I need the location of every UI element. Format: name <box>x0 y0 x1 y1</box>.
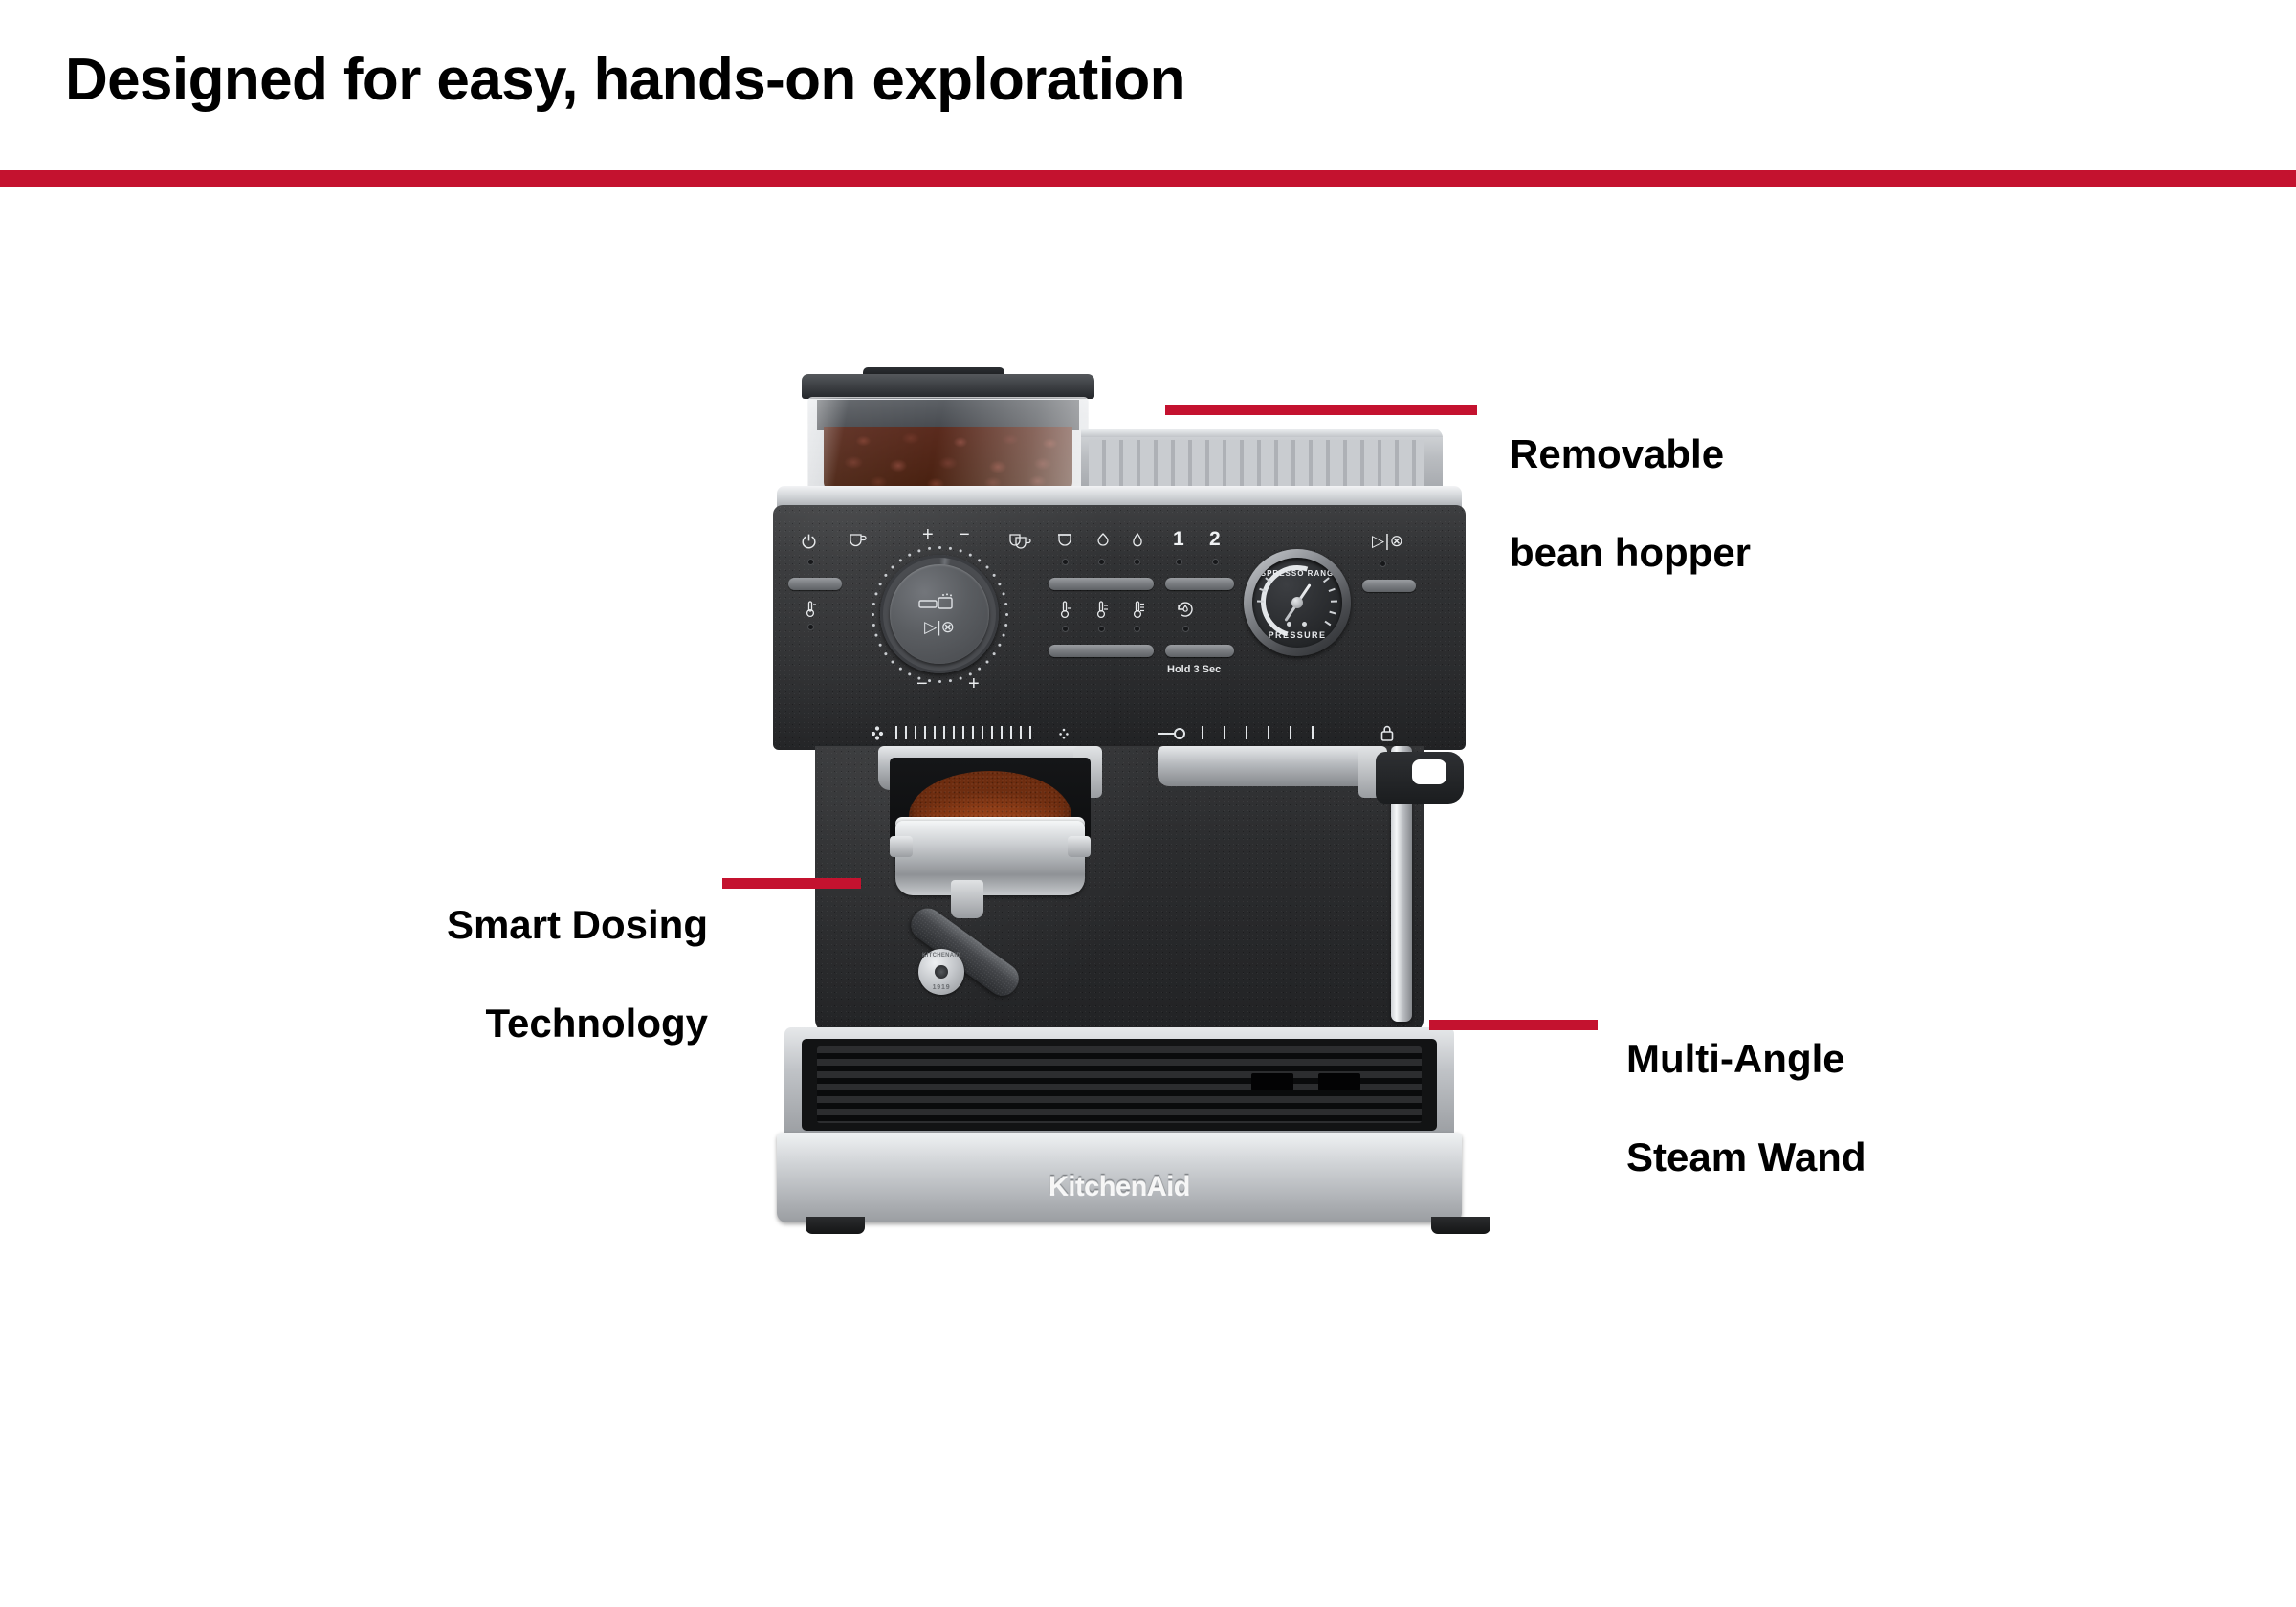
dosing-dial[interactable]: ▷|⊗ <box>890 564 989 664</box>
portafilter-medallion: KITCHENAID 1919 <box>918 949 964 995</box>
page-title: Designed for easy, hands-on exploration <box>65 46 1185 114</box>
callout-bean-hopper-line1: Removable <box>1510 429 1751 478</box>
gauge-tick <box>1324 621 1331 627</box>
shot-one-led <box>1176 559 1182 565</box>
thermometer-small-icon <box>802 599 819 618</box>
callout-steam-wand: Multi-Angle Steam Wand <box>1626 985 1865 1230</box>
portafilter-lock-ticks <box>1202 726 1314 739</box>
hold-three-sec-label: Hold 3 Sec <box>1167 664 1221 675</box>
callout-steam-wand-line2: Steam Wand <box>1626 1133 1865 1181</box>
dial-start-stop-icon: ▷|⊗ <box>924 618 955 637</box>
medallion-year-text: 1919 <box>918 984 964 991</box>
machine-base-plate: KitchenAid <box>777 1133 1462 1222</box>
leader-line-steam-wand <box>1429 1020 1598 1030</box>
single-cup-icon <box>848 532 867 549</box>
portafilter-spout <box>951 880 983 918</box>
fine-beans-icon <box>1056 727 1071 740</box>
warming-tray-ribs <box>1089 440 1424 488</box>
bean-hopper <box>807 397 1089 494</box>
power-button[interactable] <box>788 578 842 590</box>
start-stop-button[interactable] <box>1362 580 1416 592</box>
descale-led <box>1182 626 1189 632</box>
water-led <box>1134 559 1140 565</box>
water-droplet-icon <box>1131 532 1144 550</box>
brew-group-head <box>1158 746 1378 786</box>
kitchenaid-logo: KitchenAid <box>777 1171 1462 1202</box>
espresso-led <box>1062 559 1069 565</box>
lock-closed-icon <box>1380 724 1395 742</box>
gauge-hub <box>1291 597 1303 608</box>
portafilter-right-ear <box>1068 836 1091 857</box>
scale-indicators-row <box>773 721 1466 746</box>
temperature-led <box>807 624 814 630</box>
shot-two-led <box>1212 559 1219 565</box>
steam-puff-icon <box>1094 532 1112 549</box>
coarse-beans-icon <box>869 725 886 740</box>
temp-high-led <box>1134 626 1140 632</box>
double-cup-icon <box>1008 532 1033 549</box>
pressure-label: PRESSURE <box>1252 630 1342 640</box>
callout-steam-wand-line1: Multi-Angle <box>1626 1034 1865 1083</box>
dose-portafilter-icon <box>917 593 961 612</box>
medallion-center <box>935 965 948 979</box>
leader-line-smart-dosing <box>722 878 861 889</box>
shot-count-button[interactable] <box>1165 578 1234 590</box>
start-stop-icon: ▷|⊗ <box>1372 534 1403 550</box>
callout-bean-hopper: Removable bean hopper <box>1510 381 1751 626</box>
hopper-glass-reflection <box>808 398 1088 493</box>
medallion-brand-text: KITCHENAID <box>918 953 964 958</box>
gauge-tick <box>1331 601 1337 603</box>
machine-foot-left <box>806 1217 865 1234</box>
leader-line-bean-hopper <box>1165 405 1477 415</box>
drip-tray-indicator-hole <box>1318 1073 1360 1090</box>
callout-smart-dosing: Smart Dosing Technology <box>421 851 708 1096</box>
drip-tray-indicator-hole <box>1251 1073 1293 1090</box>
bean-hopper-lid <box>802 374 1094 399</box>
thermometer-mid-icon <box>1093 599 1111 620</box>
temp-mid-led <box>1098 626 1105 632</box>
grind-size-ticks <box>895 726 1031 739</box>
portafilter-basket[interactable] <box>895 821 1085 895</box>
header-divider-rule <box>0 170 2296 187</box>
descale-cycle-icon <box>1175 599 1196 620</box>
power-icon[interactable]: ⏻ <box>802 534 816 552</box>
temperature-select-button[interactable] <box>1049 645 1154 657</box>
callout-smart-dosing-line2: Technology <box>421 999 708 1047</box>
espresso-machine-image: ⏻ + − − + <box>756 371 1540 1438</box>
drip-tray-grate <box>802 1039 1437 1131</box>
machine-foot-right <box>1431 1217 1490 1234</box>
control-panel: ⏻ + − − + <box>773 505 1466 750</box>
espresso-cup-icon <box>1056 532 1075 549</box>
steam-led <box>1098 559 1105 565</box>
start-stop-led <box>1380 561 1386 567</box>
steam-wand-grip-opening <box>1412 759 1446 784</box>
callout-bean-hopper-line2: bean hopper <box>1510 528 1751 577</box>
infographic-page: Designed for easy, hands-on exploration … <box>0 0 2296 1607</box>
shot-one-label: 1 <box>1173 528 1184 551</box>
descale-button[interactable] <box>1165 645 1234 657</box>
thermometer-high-icon <box>1130 599 1147 620</box>
thermometer-low-icon <box>1057 599 1074 620</box>
pressure-gauge: ESPRESSO RANGE PRESSURE <box>1252 558 1342 648</box>
gauge-tick <box>1257 601 1264 603</box>
gauge-indicator-dot <box>1302 622 1307 627</box>
gauge-indicator-dot <box>1287 622 1291 627</box>
warming-tray-rim <box>1081 429 1443 437</box>
power-led <box>807 559 814 565</box>
beverage-select-button[interactable] <box>1049 578 1154 590</box>
portafilter-key-icon <box>1156 727 1186 740</box>
callout-smart-dosing-line1: Smart Dosing <box>421 900 708 949</box>
portafilter-left-ear <box>890 836 913 857</box>
shot-two-label: 2 <box>1209 528 1221 551</box>
temp-low-led <box>1062 626 1069 632</box>
